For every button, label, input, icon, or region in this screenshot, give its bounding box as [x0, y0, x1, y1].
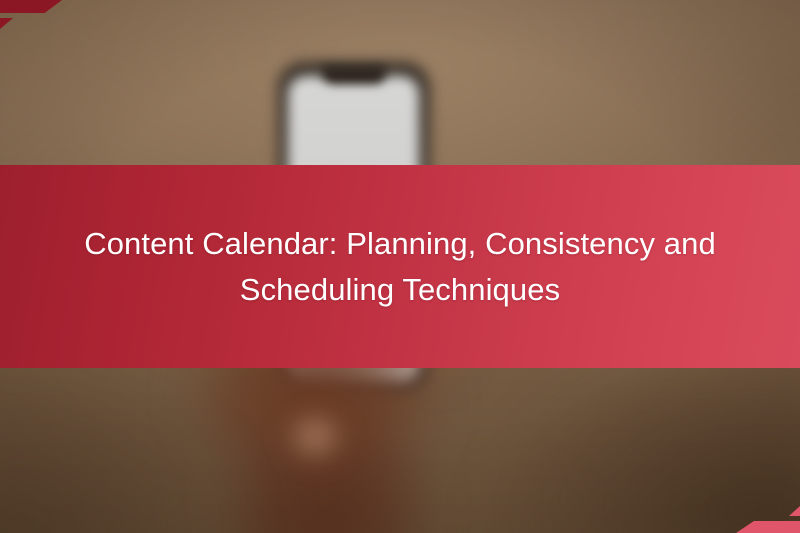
title-band: Content Calendar: Planning, Consistency … — [0, 165, 800, 368]
page-title-line-2: Scheduling Techniques — [240, 272, 560, 307]
page-title: Content Calendar: Planning, Consistency … — [50, 221, 750, 312]
page-title-line-1: Content Calendar: Planning, Consistency … — [84, 226, 716, 261]
title-band-inner: Content Calendar: Planning, Consistency … — [50, 221, 750, 312]
featured-image-banner: Content Calendar: Planning, Consistency … — [0, 0, 800, 533]
